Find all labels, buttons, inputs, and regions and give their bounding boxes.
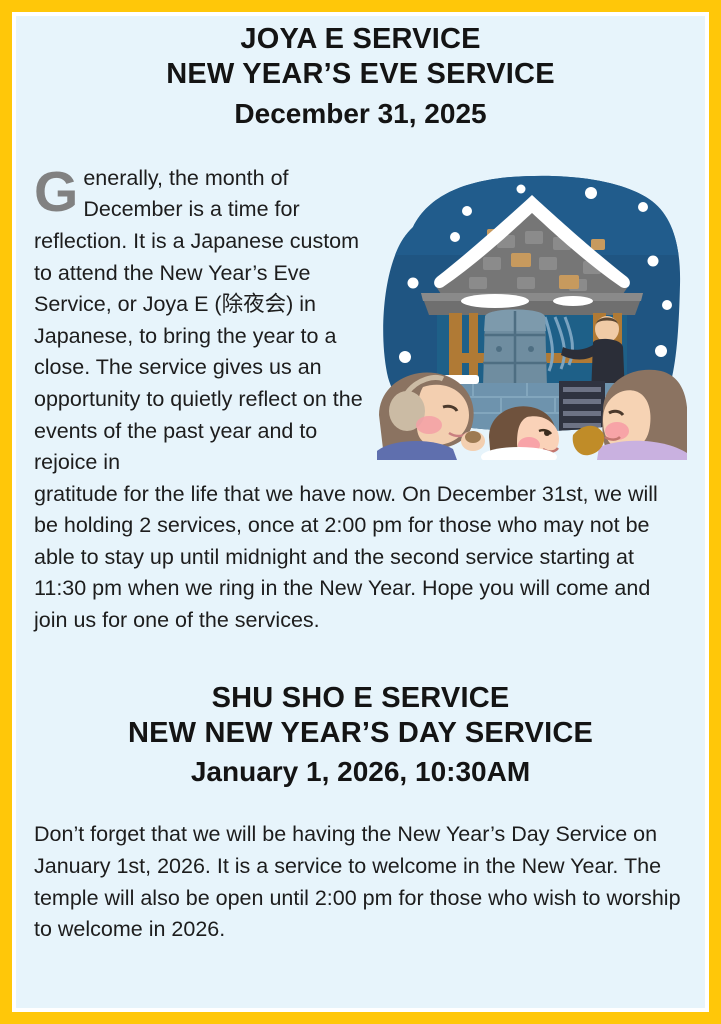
joya-e-title-line-1: JOYA E SERVICE	[34, 22, 687, 57]
flyer-sheet: JOYA E SERVICE NEW YEAR’S EVE SERVICE De…	[16, 16, 705, 1008]
joya-e-title-line-2: NEW YEAR’S EVE SERVICE	[34, 57, 687, 92]
shu-sho-e-heading-block: SHU SHO E SERVICE NEW NEW YEAR’S DAY SER…	[34, 681, 687, 794]
dropcap-letter: G	[34, 165, 83, 216]
frame-inner-gap: JOYA E SERVICE NEW YEAR’S EVE SERVICE De…	[12, 12, 709, 1012]
shu-sho-e-paragraph: Don’t forget that we will be having the …	[34, 819, 687, 945]
joya-e-heading-block: JOYA E SERVICE NEW YEAR’S EVE SERVICE De…	[34, 22, 687, 135]
shu-sho-e-title-line-1: SHU SHO E SERVICE	[34, 681, 687, 716]
shu-sho-e-body: Don’t forget that we will be having the …	[34, 819, 687, 945]
temple-bell-illustration	[377, 165, 687, 460]
section-spacer	[34, 637, 687, 681]
flyer-page: JOYA E SERVICE NEW YEAR’S EVE SERVICE De…	[0, 0, 721, 1024]
shu-sho-e-title-line-2: NEW NEW YEAR’S DAY SERVICE	[34, 716, 687, 751]
joya-e-paragraph-full: gratitude for the life that we have now.…	[34, 479, 687, 637]
heading-spacer-1	[34, 135, 687, 163]
heading-spacer-2	[34, 793, 687, 819]
shu-sho-e-date: January 1, 2026, 10:30AM	[34, 751, 687, 793]
joya-e-date: December 31, 2025	[34, 93, 687, 135]
